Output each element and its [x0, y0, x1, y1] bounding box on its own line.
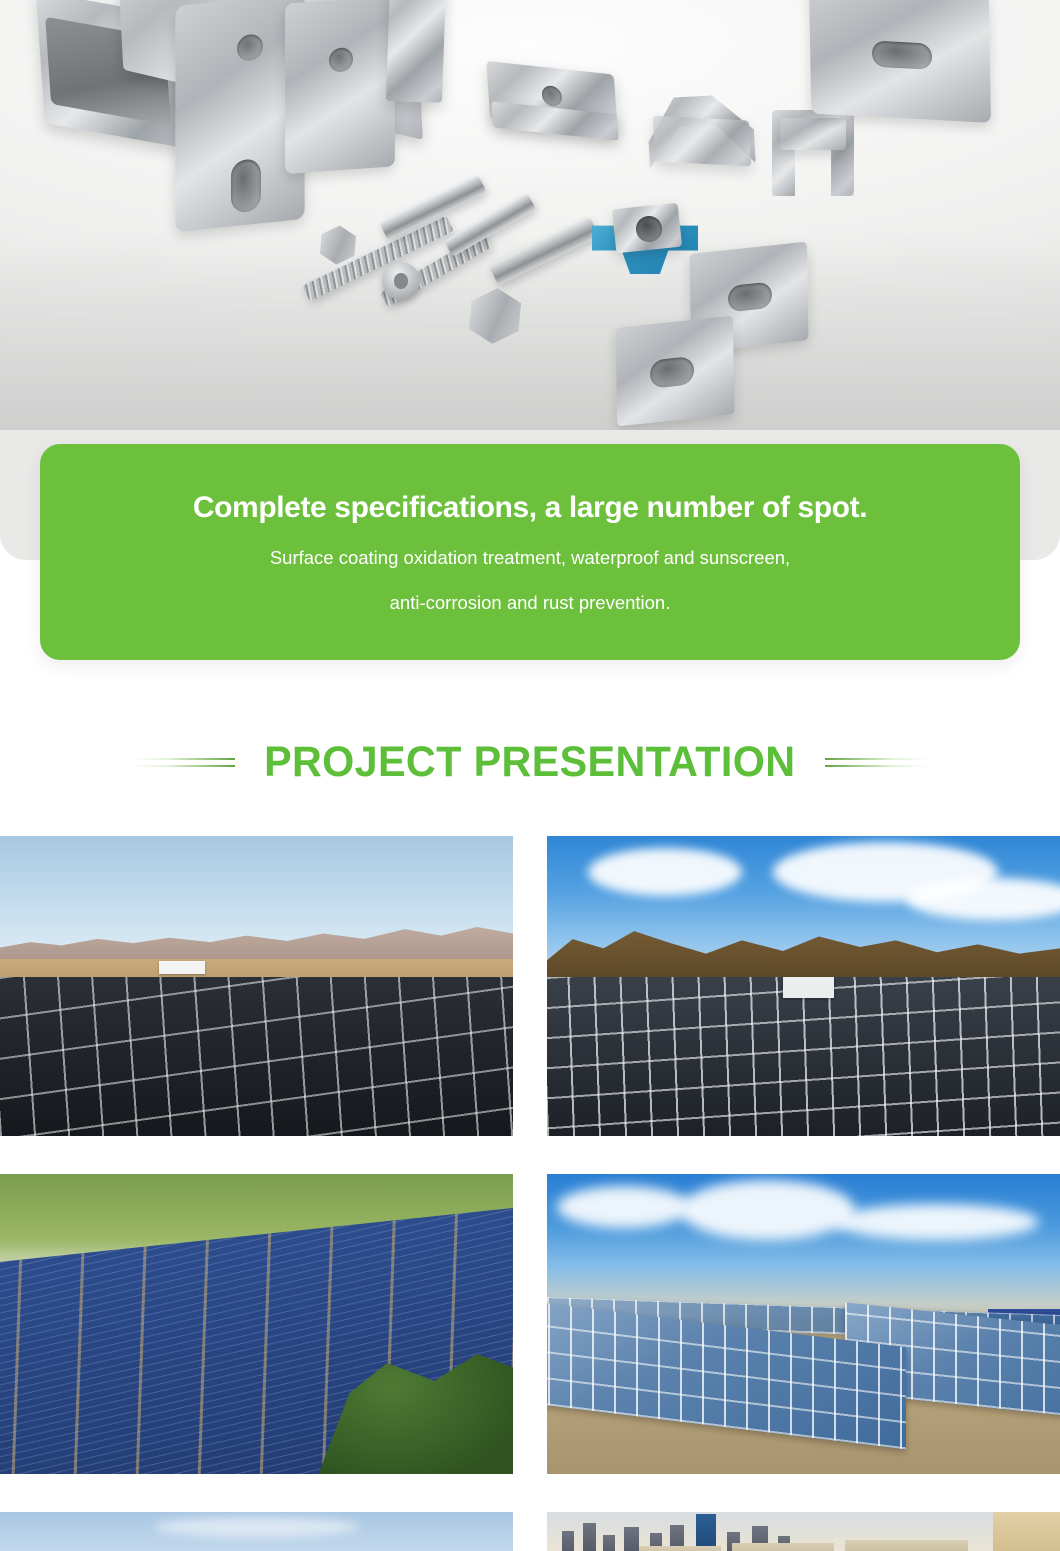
mid-clamp-hole	[541, 85, 562, 107]
tile4-cloud-1	[557, 1186, 690, 1228]
project-gallery	[0, 836, 1060, 1551]
end-clamp-u-cap	[780, 118, 846, 150]
double-line-rule-right-icon	[825, 755, 929, 769]
tile2-cloud-1	[588, 848, 742, 896]
gallery-item-sky-partial[interactable]	[0, 1512, 513, 1551]
page-title: PROJECT PRESENTATION	[264, 741, 795, 784]
product-detail-page: Complete specifications, a large number …	[0, 0, 1060, 1551]
splice-channel	[386, 0, 446, 103]
promo-line-2: anti-corrosion and rust prevention.	[390, 591, 671, 614]
tile6-plant-building-2	[732, 1543, 835, 1551]
ground-plate-slot	[615, 316, 734, 427]
l-bracket-large-hole-top	[237, 33, 263, 62]
double-line-rule-left-icon	[131, 755, 235, 769]
section-heading: PROJECT PRESENTATION	[0, 704, 1060, 820]
promo-line-1: Surface coating oxidation treatment, wat…	[270, 546, 790, 569]
tile2-inverter-station	[783, 977, 834, 998]
tile1-panel-array	[0, 977, 513, 1136]
hero-product-photo	[0, 0, 1060, 430]
anchor-bolt-short-washer	[382, 262, 420, 300]
tile2-panel-array	[547, 977, 1060, 1136]
gallery-item-city-skyline-partial[interactable]	[547, 1512, 1060, 1551]
end-clamp-z-shadowpiece	[653, 116, 752, 167]
base-foot-plate	[809, 0, 991, 123]
tile6-tower-3	[603, 1535, 614, 1551]
ground-plate-slot-hole	[650, 356, 694, 389]
tile1-building	[159, 961, 205, 975]
blue-t-nut-thread-hole	[636, 216, 662, 242]
tile6-tower-4	[624, 1527, 639, 1551]
base-foot-plate-slot	[872, 41, 932, 70]
tile4-cloud-3	[834, 1204, 1039, 1240]
l-bracket-small-hole	[329, 47, 353, 73]
tile6-plant-building-3	[845, 1540, 968, 1551]
l-bracket-small	[285, 0, 395, 174]
ground-plate-oval-hole	[728, 282, 772, 313]
tile6-plant-building-1	[639, 1546, 721, 1551]
promo-title: Complete specifications, a large number …	[193, 490, 867, 527]
tile6-sand-wall	[993, 1512, 1060, 1551]
gallery-item-plateau-solar-plant[interactable]	[547, 836, 1060, 1136]
gallery-item-ground-mount-rows[interactable]	[547, 1174, 1060, 1474]
gallery-item-desert-solar-farm[interactable]	[0, 836, 513, 1136]
hero-section: Complete specifications, a large number …	[0, 0, 1060, 560]
tile4-cloud-2	[680, 1180, 854, 1240]
tile6-tower-1	[562, 1531, 573, 1551]
gallery-item-aerial-farmland-array[interactable]	[0, 1174, 513, 1474]
promo-card: Complete specifications, a large number …	[40, 444, 1020, 660]
l-bracket-large-slot	[231, 158, 261, 213]
tile6-tower-2	[583, 1523, 596, 1551]
